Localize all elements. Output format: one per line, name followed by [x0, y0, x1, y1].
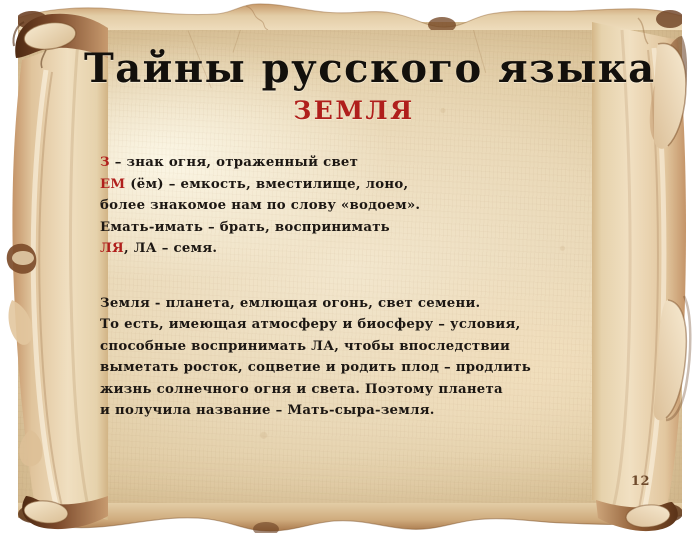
definition-text: Емать-имать – брать, воспринимать [100, 220, 390, 235]
definition-line: более знакомое нам по слову «водоем». [100, 195, 624, 217]
explanation-line: жизнь солнечного огня и света. Поэтому п… [100, 379, 624, 401]
definition-line: Емать-имать – брать, воспринимать [100, 217, 624, 239]
definition-text: , ЛА – семя. [124, 241, 217, 256]
explanation-line: Земля - планета, емлющая огонь, свет сем… [100, 293, 624, 315]
definition-line: З – знак огня, отраженный свет [100, 152, 624, 174]
explanation-line: выметать росток, соцветие и родить плод … [100, 357, 624, 379]
explanation-line: и получила название – Мать-сыра-земля. [100, 400, 624, 422]
explanation-line: способные воспринимать ЛА, чтобы впослед… [100, 336, 624, 358]
definition-accent: ЕМ [100, 177, 125, 192]
definition-line: ЛЯ, ЛА – семя. [100, 238, 624, 260]
definition-text: (ём) – емкость, вместилище, лоно, [125, 177, 408, 192]
scroll-poster: Тайны русского языка ЗЕМЛЯ З – знак огня… [0, 0, 700, 533]
definition-text: более знакомое нам по слову «водоем». [100, 198, 420, 213]
definition-text: – знак огня, отраженный свет [110, 155, 358, 170]
definition-accent: З [100, 155, 110, 170]
explanation-line: То есть, имеющая атмосферу и биосферу – … [100, 314, 624, 336]
page-number: 12 [631, 474, 650, 489]
definitions-block: З – знак огня, отраженный свет ЕМ (ём) –… [84, 152, 624, 260]
page-subtitle: ЗЕМЛЯ [84, 96, 624, 125]
poster-content: Тайны русского языка ЗЕМЛЯ З – знак огня… [84, 48, 624, 488]
explanation-block: Земля - планета, емлющая огонь, свет сем… [84, 293, 624, 422]
definition-accent: ЛЯ [100, 241, 124, 256]
definition-line: ЕМ (ём) – емкость, вместилище, лоно, [100, 174, 624, 196]
page-title: Тайны русского языка [84, 48, 624, 90]
